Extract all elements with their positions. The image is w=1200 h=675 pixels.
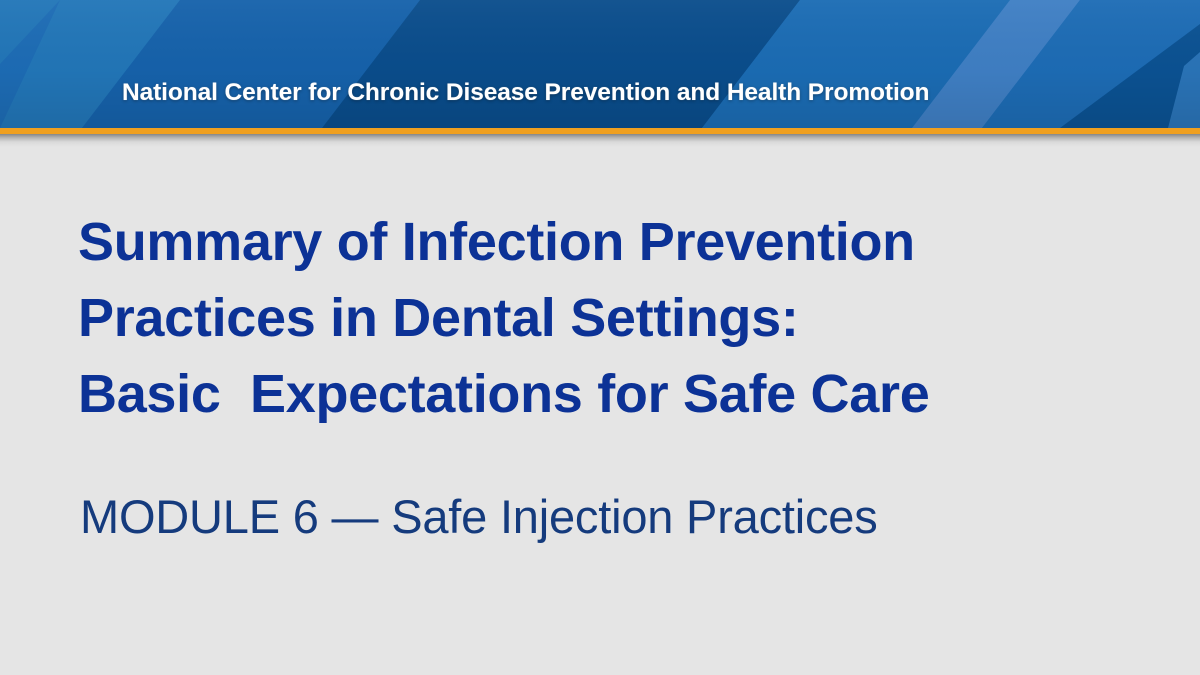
page-title-line-2: Practices in Dental Settings: xyxy=(78,280,1118,356)
header-banner: National Center for Chronic Disease Prev… xyxy=(0,0,1200,128)
page-title-line-1: Summary of Infection Prevention xyxy=(78,204,1118,280)
banner-diagonal-stripes-decoration xyxy=(0,0,1200,128)
module-subtitle: MODULE 6 — Safe Injection Practices xyxy=(80,488,1140,546)
banner-drop-shadow xyxy=(0,134,1200,147)
page-title: Summary of Infection Prevention Practice… xyxy=(78,204,1118,432)
page-title-line-3: Basic Expectations for Safe Care xyxy=(78,356,1118,432)
organization-name: National Center for Chronic Disease Prev… xyxy=(122,79,929,107)
slide-body: Summary of Infection Prevention Practice… xyxy=(0,147,1200,675)
